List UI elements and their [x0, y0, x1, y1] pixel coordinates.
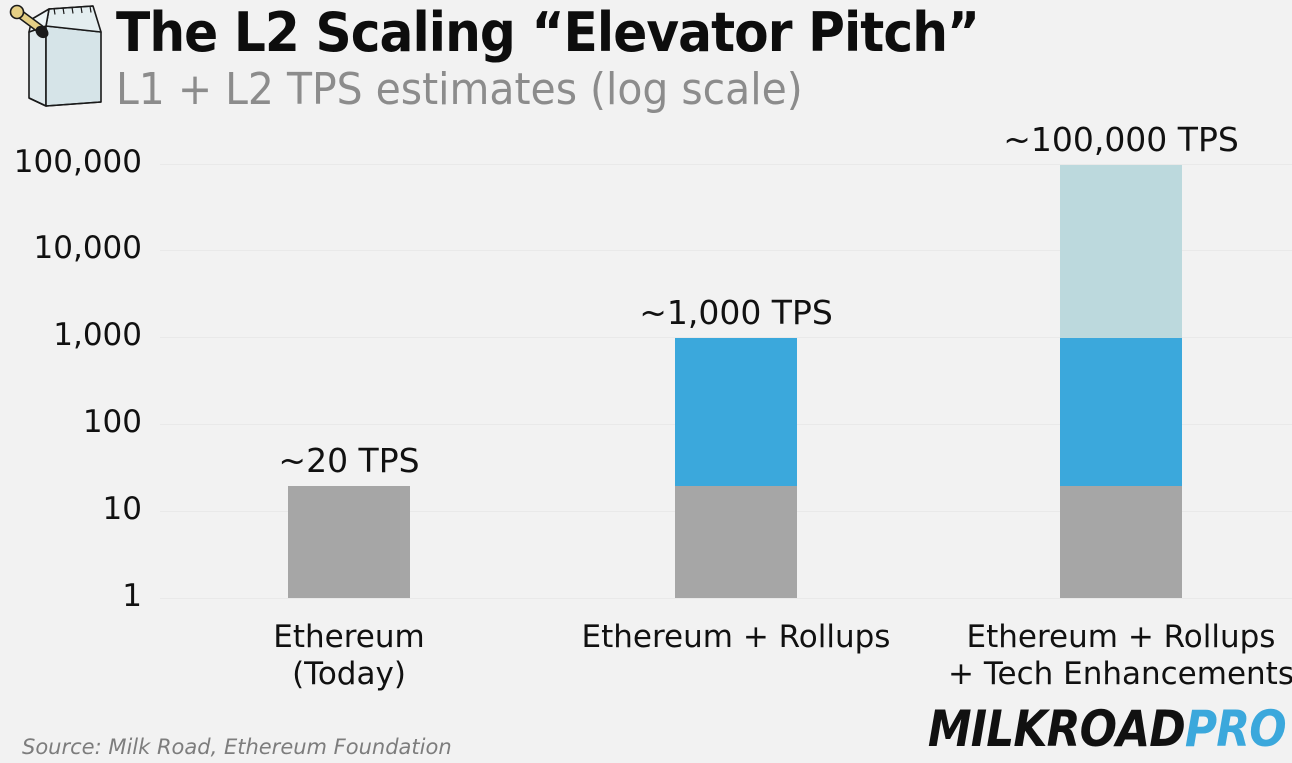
x-axis-category-label: Ethereum(Today)	[139, 619, 559, 693]
x-axis-category-line: (Today)	[139, 656, 559, 693]
brand-secondary: PRO	[1185, 700, 1286, 758]
bar-segment[interactable]	[675, 338, 797, 485]
x-axis-category-line: Ethereum	[139, 619, 559, 656]
chart-root: The L2 Scaling “Elevator Pitch” L1 + L2 …	[0, 0, 1292, 763]
plot-area: 100,00010,0001,000100101~20 TPSEthereum(…	[0, 0, 1292, 763]
x-axis-category-label: Ethereum + Rollups+ Tech Enhancements	[911, 619, 1292, 693]
y-axis-tick-label: 10	[0, 491, 142, 527]
x-axis-category-label: Ethereum + Rollups	[526, 619, 946, 656]
y-axis-tick-label: 1,000	[0, 317, 142, 353]
x-axis-category-line: Ethereum + Rollups	[526, 619, 946, 656]
bar-segment[interactable]	[1060, 338, 1182, 485]
bar-segment[interactable]	[1060, 486, 1182, 599]
bar-value-label: ~20 TPS	[139, 441, 559, 480]
y-axis-tick-label: 1	[0, 578, 142, 614]
bar-value-label: ~100,000 TPS	[911, 120, 1292, 159]
y-axis-tick-label: 100,000	[0, 144, 142, 180]
y-axis-tick-label: 100	[0, 404, 142, 440]
bar-segment[interactable]	[1060, 165, 1182, 339]
bar-column[interactable]	[675, 338, 797, 598]
bar-segment[interactable]	[288, 486, 410, 599]
bar-column[interactable]	[1060, 165, 1182, 599]
source-note: Source: Milk Road, Ethereum Foundation	[22, 735, 452, 759]
bar-value-label: ~1,000 TPS	[526, 293, 946, 332]
milkroad-pro-logo: MILKROADPRO	[928, 702, 1286, 756]
bar-segment[interactable]	[675, 486, 797, 599]
x-axis-category-line: + Tech Enhancements	[911, 656, 1292, 693]
y-axis-tick-label: 10,000	[0, 230, 142, 266]
x-axis-category-line: Ethereum + Rollups	[911, 619, 1292, 656]
bar-column[interactable]	[288, 486, 410, 599]
brand-primary: MILKROAD	[928, 700, 1185, 758]
